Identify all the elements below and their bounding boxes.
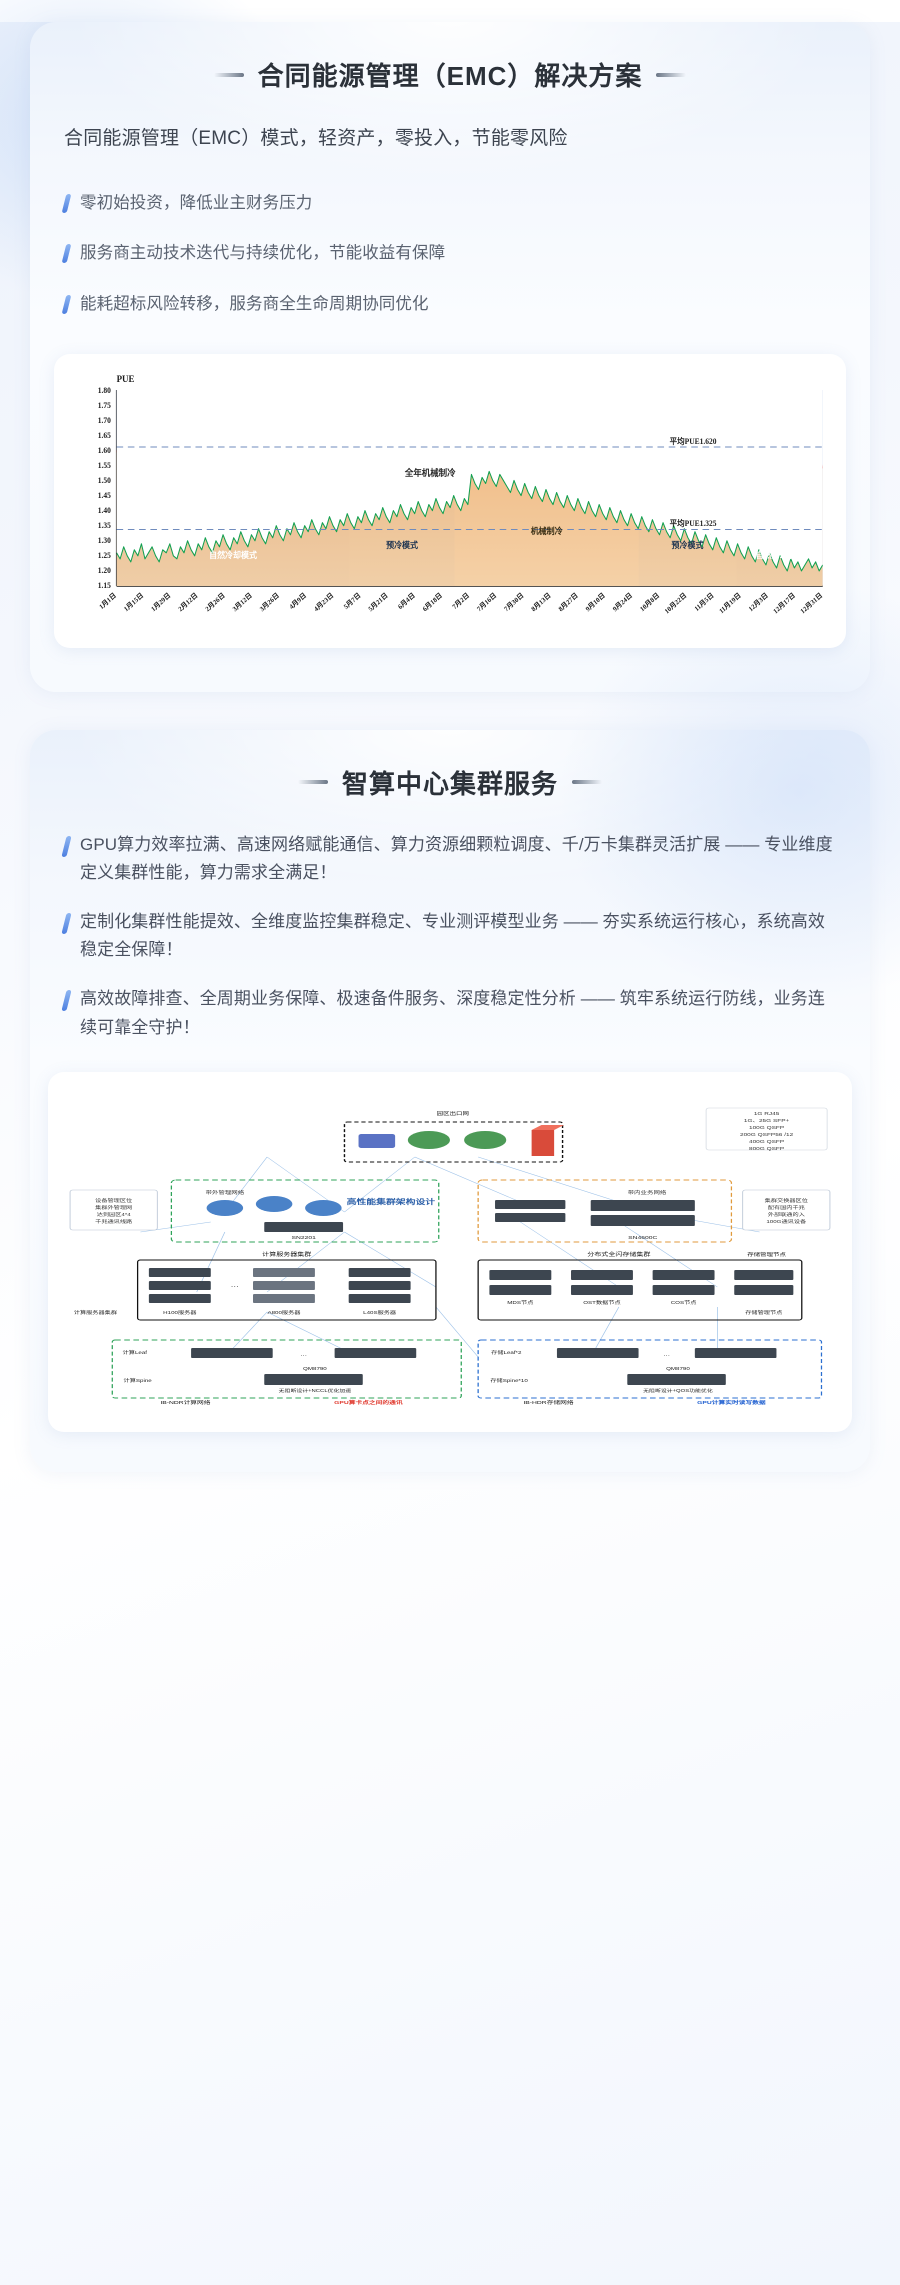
- x-tick-label: 7月30日: [503, 591, 526, 613]
- zone-label-precool-1: 预冷模式: [386, 540, 419, 550]
- chart-x-ticks: 1月1日1月15日1月29日2月12日2月26日3月12日3月26日4月9日4月…: [98, 591, 824, 615]
- callout-gpu-comm: GPU算卡点之间的通讯: [334, 1399, 403, 1406]
- x-tick-label: 12月31日: [799, 591, 824, 615]
- node-qm8790-a-label: QM8790: [303, 1367, 327, 1372]
- heading-dash-left-icon: [214, 73, 244, 77]
- group-mgmt-label: 带外管理网络: [205, 1189, 244, 1196]
- svg-text:1.55: 1.55: [98, 461, 111, 470]
- section-title: 智算中心集群服务: [342, 764, 558, 801]
- note-left-line-1: 集群外管理网: [95, 1204, 132, 1211]
- svg-text:1.70: 1.70: [98, 416, 111, 425]
- svg-text:1.35: 1.35: [98, 521, 111, 530]
- svg-text:1.65: 1.65: [98, 431, 111, 440]
- svg-text:1.30: 1.30: [98, 536, 111, 545]
- x-tick-label: 10月22日: [663, 591, 688, 615]
- list-item-label: 服务商主动技术迭代与持续优化，节能收益有保障: [80, 240, 445, 267]
- section-card-emc: 合同能源管理（EMC）解决方案 合同能源管理（EMC）模式，轻资产，零投入，节能…: [30, 22, 870, 692]
- x-tick-label: 1月15日: [122, 591, 145, 613]
- note-left-line-2: 达到园区4*4: [97, 1211, 131, 1218]
- group-mgmt-net: 高性能集群架构设计 带外管理网络 SN2201: [171, 1180, 438, 1242]
- x-tick-label: 11月5日: [693, 591, 715, 613]
- x-tick-label: 2月12日: [177, 591, 200, 613]
- svg-text:1.45: 1.45: [98, 491, 111, 500]
- list-item: GPU算力效率拉满、高速网络赋能通信、算力资源细颗粒调度、千/万卡集群灵活扩展 …: [64, 831, 836, 888]
- x-tick-label: 9月10日: [584, 591, 607, 613]
- group-storage-label: 带内业务网络: [628, 1189, 667, 1196]
- list-item-label: 零初始投资，降低业主财务压力: [80, 190, 312, 217]
- x-tick-label: 8月27日: [557, 591, 580, 613]
- list-item: 能耗超标风险转移，服务商全生命周期协同优化: [64, 291, 836, 318]
- x-tick-label: 4月9日: [288, 591, 308, 611]
- label-ib-hdr-net: IB-HDR存储网络: [523, 1399, 573, 1406]
- zone-label-precool-2: 预冷模式: [672, 540, 705, 550]
- compute-node-h100: H100服务器: [163, 1309, 197, 1316]
- x-tick-label: 11月19日: [718, 591, 743, 615]
- group-param-label: 存储管理节点: [747, 1251, 786, 1258]
- chart-y-axis-title: PUE: [117, 374, 135, 384]
- legend-item-0: 1G RJ45: [754, 1112, 780, 1117]
- chart-y-ticks: 1.80 1.75 1.70 1.65 1.60 1.55 1.50 1.45 …: [98, 386, 111, 590]
- group-ib-ndr-compute-net: 计算Leaf 计算Spine … QM8790 无阻断设计+NCCL优化加速 I…: [112, 1340, 461, 1406]
- x-tick-label: 8月13日: [530, 591, 553, 613]
- x-tick-label: 6月4日: [397, 591, 417, 611]
- cluster-architecture-diagram: 园区出口网 1G RJ45 1G、25G SFP+ 100G QSFP 200G: [56, 1082, 844, 1422]
- legend-item-1: 1G、25G SFP+: [744, 1119, 789, 1124]
- x-tick-label: 12月3日: [747, 591, 770, 613]
- list-item: 定制化集群性能提效、全维度监控集群稳定、专业测评模型业务 —— 夯实系统运行核心…: [64, 908, 836, 965]
- note-right-line-1: 配有国内千兆: [768, 1204, 806, 1211]
- svg-text:1.25: 1.25: [98, 551, 111, 560]
- page-root: 合同能源管理（EMC）解决方案 合同能源管理（EMC）模式，轻资产，零投入，节能…: [0, 22, 900, 2285]
- note-left-line-0: 设备管理区位: [95, 1197, 133, 1204]
- zone-label-natural-cooling-1: 自然冷却模式: [209, 550, 258, 560]
- x-tick-label: 2月26日: [204, 591, 227, 613]
- storage-node-mds: MDS节点: [507, 1300, 534, 1306]
- x-tick-label: 9月24日: [611, 591, 634, 613]
- bullet-marker-icon: [62, 295, 72, 314]
- card-glow: [70, 22, 830, 182]
- svg-text:1.80: 1.80: [98, 386, 111, 395]
- bullet-marker-icon: [61, 990, 71, 1011]
- cluster-architecture-svg: 园区出口网 1G RJ45 1G、25G SFP+ 100G QSFP 200G: [56, 1082, 844, 1422]
- zone-label-mechanical: 机械制冷: [531, 526, 564, 536]
- group-ib-hdr-storage-net: 存储Leaf*2 存储Spine*10 … QM8790 无阻断设计+QOS功能…: [478, 1340, 821, 1406]
- list-item-label: GPU算力效率拉满、高速网络赋能通信、算力资源细颗粒调度、千/万卡集群灵活扩展 …: [80, 831, 836, 888]
- diagram-title: 高性能集群架构设计: [347, 1197, 436, 1206]
- label-ib-ndr-net: IB-NDR计算网络: [160, 1399, 210, 1406]
- bullet-marker-icon: [62, 244, 72, 263]
- diagram-link-lines: [140, 1157, 759, 1357]
- x-tick-label: 1月29日: [150, 591, 173, 613]
- storage-node-ost: OST数据节点: [583, 1299, 621, 1306]
- storage-node-cos: COS节点: [671, 1300, 697, 1306]
- list-item-label: 高效故障排查、全周期业务保障、极速备件服务、深度稳定性分析 —— 筑牢系统运行防…: [80, 985, 836, 1042]
- section-card-aidc: 智算中心集群服务 GPU算力效率拉满、高速网络赋能通信、算力资源细颗粒调度、千/…: [30, 730, 870, 1472]
- list-item: 服务商主动技术迭代与持续优化，节能收益有保障: [64, 240, 836, 267]
- pue-chart-svg: PUE 1.80 1.75 1.70 1.65 1.60 1.55 1.50 1…: [64, 368, 834, 638]
- x-tick-label: 7月16日: [476, 591, 499, 613]
- node-sn4600c-label: SN4600C: [628, 1236, 657, 1241]
- legend-item-3: 200G QSFP56 /12: [740, 1133, 793, 1138]
- heading-dash-right-icon: [656, 73, 686, 77]
- pue-chart: PUE 1.80 1.75 1.70 1.65 1.60 1.55 1.50 1…: [64, 368, 834, 638]
- x-tick-label: 12月17日: [772, 591, 797, 615]
- bullet-marker-icon: [61, 913, 71, 934]
- node-exit-net-label: 园区出口网: [437, 1110, 470, 1117]
- list-item-label: 能耗超标风险转移，服务商全生命周期协同优化: [80, 291, 429, 318]
- diagram-legend: 1G RJ45 1G、25G SFP+ 100G QSFP 200G QSFP5…: [706, 1108, 827, 1152]
- x-tick-label: 5月21日: [367, 591, 390, 613]
- svg-text:1.40: 1.40: [98, 506, 111, 515]
- x-tick-label: 7月2日: [451, 591, 471, 611]
- x-tick-label: 6月18日: [421, 591, 444, 613]
- group-dist-storage-label: 分布式全闪存储集群: [587, 1251, 650, 1258]
- svg-text:1.60: 1.60: [98, 446, 111, 455]
- label-storage-spine: 存储Spine*10: [490, 1377, 527, 1384]
- x-tick-label: 4月23日: [313, 591, 336, 613]
- x-tick-label: 1月1日: [98, 591, 118, 611]
- zone-label-natural-cooling-2: 自然冷却模式: [756, 550, 805, 560]
- bullet-marker-icon: [62, 194, 72, 213]
- section-heading-emc: 合同能源管理（EMC）解决方案: [30, 56, 870, 93]
- note-right-line-2: 外部联通的入: [768, 1211, 806, 1218]
- svg-text:1.20: 1.20: [98, 566, 111, 575]
- group-compute-label: 计算服务器集群: [262, 1251, 311, 1258]
- svg-text:1.15: 1.15: [98, 581, 111, 590]
- annotation-mean-traditional: 平均PUE1.620: [670, 436, 717, 446]
- x-tick-label: 5月7日: [342, 591, 362, 611]
- section-heading-aidc: 智算中心集群服务: [30, 764, 870, 801]
- switch-note-a: 无阻断设计+NCCL优化加速: [279, 1388, 351, 1394]
- page-title: 合同能源管理（EMC）解决方案: [258, 56, 643, 93]
- compute-node-a800: A800服务器: [267, 1309, 301, 1316]
- switch-note-b: 无阻断设计+QOS功能优化: [643, 1388, 713, 1394]
- pue-chart-panel: PUE 1.80 1.75 1.70 1.65 1.60 1.55 1.50 1…: [54, 354, 846, 648]
- x-tick-label: 10月8日: [638, 591, 661, 613]
- note-left-line-3: 千兆通讯线路: [95, 1218, 133, 1225]
- x-tick-label: 3月26日: [258, 591, 281, 613]
- group-storage-net: 带内业务网络 SN4600C: [478, 1180, 731, 1242]
- svg-text:1.50: 1.50: [98, 476, 111, 485]
- label-storage-leaf: 存储Leaf*2: [491, 1349, 521, 1356]
- annotation-year-round-mechanical: 全年机械制冷: [404, 467, 456, 478]
- list-item: 零初始投资，降低业主财务压力: [64, 190, 836, 217]
- legend-item-2: 100G QSFP: [749, 1126, 785, 1131]
- compute-cluster-side-label: 计算服务器集群: [74, 1309, 118, 1316]
- group-compute-servers: 计算服务器集群 … H100服务器 A800服务器 L40S服务器: [74, 1251, 436, 1320]
- emc-lead-paragraph: 合同能源管理（EMC）模式，轻资产，零投入，节能零风险: [64, 123, 836, 156]
- storage-leaf-ellipsis: …: [663, 1352, 670, 1358]
- svg-text:1.75: 1.75: [98, 401, 111, 410]
- label-compute-leaf: 计算Leaf: [123, 1349, 148, 1356]
- x-tick-label: 3月12日: [231, 591, 254, 613]
- legend-item-4: 400G QSFP: [749, 1140, 785, 1145]
- compute-node-l40s: L40S服务器: [363, 1309, 397, 1316]
- legend-item-5: 800G QSFP: [749, 1147, 785, 1152]
- heading-dash-left-icon: [298, 780, 328, 784]
- bullet-marker-icon: [61, 836, 71, 857]
- compute-ellipsis: …: [230, 1281, 238, 1288]
- aidc-bullet-list: GPU算力效率拉满、高速网络赋能通信、算力资源细颗粒调度、千/万卡集群灵活扩展 …: [64, 831, 836, 1042]
- list-item-label: 定制化集群性能提效、全维度监控集群稳定、专业测评模型业务 —— 夯实系统运行核心…: [80, 908, 836, 965]
- label-compute-spine: 计算Spine: [124, 1377, 152, 1384]
- emc-bullet-list: 零初始投资，降低业主财务压力 服务商主动技术迭代与持续优化，节能收益有保障 能耗…: [64, 190, 836, 318]
- note-right-line-3: 100G通讯设备: [766, 1218, 807, 1225]
- node-exit-net: 园区出口网: [344, 1110, 564, 1162]
- cluster-architecture-panel: 园区出口网 1G RJ45 1G、25G SFP+ 100G QSFP 200G: [48, 1072, 852, 1432]
- node-qm8790-b-label: QM8790: [666, 1367, 690, 1372]
- storage-node-mgmt: 存储管理节点: [745, 1309, 783, 1316]
- group-dist-storage: 分布式全闪存储集群 存储管理节点 MDS节点 OST数据节点 COS节点: [478, 1251, 802, 1320]
- callout-gpu-io: GPU计算实时读写数据: [697, 1399, 766, 1406]
- node-sn2201-label: SN2201: [291, 1236, 315, 1241]
- compute-leaf-ellipsis: …: [300, 1352, 307, 1358]
- note-left-top: 设备管理区位 集群外管理网 达到园区4*4 千兆通讯线路: [70, 1190, 157, 1230]
- note-right-top: 集群交换器区位 配有国内千兆 外部联通的入 100G通讯设备: [743, 1190, 830, 1230]
- note-right-line-0: 集群交换器区位: [765, 1197, 809, 1204]
- annotation-mean-smart: 平均PUE1.325: [670, 518, 717, 528]
- list-item: 高效故障排查、全周期业务保障、极速备件服务、深度稳定性分析 —— 筑牢系统运行防…: [64, 985, 836, 1042]
- heading-dash-right-icon: [572, 780, 602, 784]
